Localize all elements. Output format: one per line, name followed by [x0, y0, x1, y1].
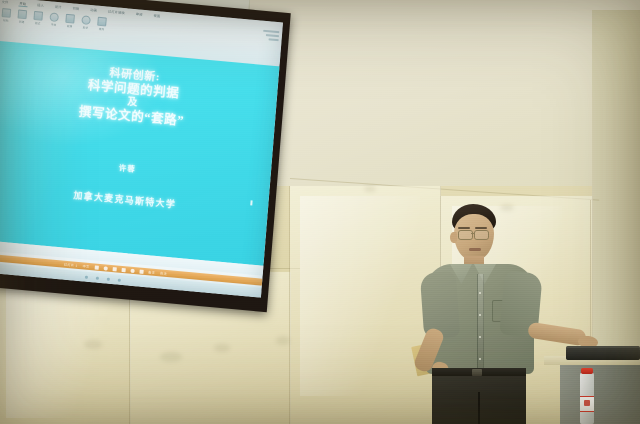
presenter-ear: [450, 232, 457, 243]
normal-view-icon[interactable]: [112, 267, 116, 271]
slide-author: 许蓉: [0, 150, 271, 187]
text-cursor: [250, 200, 252, 205]
laptop-icon[interactable]: [566, 348, 640, 360]
ribbon-tab-slideshow[interactable]: 幻灯片放映: [107, 9, 126, 17]
sorter-view-icon[interactable]: [121, 267, 125, 271]
slide-canvas: 科研创新: 科学问题的判据 及 撰写论文的“套路” 许蓉 加拿大麦克马斯特大学: [0, 40, 279, 275]
slide-affiliation: 加拿大麦克马斯特大学: [0, 180, 268, 219]
projected-image: 文件 开始 插入 设计 切换 动画 幻灯片放映 审阅 视图 粘贴: [0, 0, 283, 298]
presenter-mouth: [469, 248, 481, 251]
wall-smudge-3: [84, 340, 102, 349]
ribbon-tab-animations[interactable]: 动画: [89, 7, 98, 14]
wall-smudge-4: [160, 352, 182, 362]
status-notes-label[interactable]: 备注: [148, 269, 155, 275]
ribbon-group-paragraph-label: 段落: [67, 24, 72, 28]
ribbon-tab-review[interactable]: 审阅: [135, 11, 144, 18]
clipboard-icon: [2, 8, 12, 18]
ribbon-group-arrange[interactable]: 排列: [97, 17, 107, 32]
bottle-cap: [581, 368, 593, 374]
ribbon-group-font-label: 字体: [51, 23, 56, 27]
fit-window-icon[interactable]: [118, 278, 121, 281]
belt-buckle: [472, 369, 482, 376]
status-language: 中文: [82, 263, 89, 269]
ribbon-group-arrange-label: 排列: [99, 27, 104, 31]
ribbon-tab-file[interactable]: 文件: [1, 0, 10, 6]
comments-icon[interactable]: [103, 266, 107, 270]
ribbon-right-commands: [263, 30, 280, 42]
layout-icon: [33, 11, 43, 21]
lecture-room-photo: 文件 开始 插入 设计 切换 动画 幻灯片放映 审阅 视图 粘贴: [0, 0, 640, 424]
reading-view-icon[interactable]: [130, 268, 134, 272]
glasses-bridge: [471, 233, 474, 234]
current-slide[interactable]: 科研创新: 科学问题的判据 及 撰写论文的“套路” 许蓉 加拿大麦克马斯特大学: [0, 40, 279, 265]
slideshow-icon[interactable]: [139, 269, 143, 273]
presenter-brow-right: [475, 227, 487, 229]
arrange-icon: [97, 17, 107, 27]
edit-icon[interactable]: [266, 34, 279, 38]
paragraph-icon: [65, 14, 75, 24]
status-comments-label[interactable]: 批注: [160, 270, 167, 276]
notes-icon[interactable]: [94, 265, 98, 269]
whiteboard-seam-2: [289, 186, 290, 424]
zoom-in-icon[interactable]: [107, 277, 110, 280]
ribbon-group-shape-label: 形状: [83, 25, 88, 29]
presenter-brow-left: [458, 227, 470, 229]
status-slide-number: 幻灯片 1: [64, 262, 78, 268]
ribbon-tab-transitions[interactable]: 切换: [71, 5, 80, 12]
shirt-sleeve-left: [420, 271, 461, 339]
ribbon-group-layout-label: 版式: [35, 21, 40, 25]
ribbon-group-new-slide-label: 新建: [19, 20, 24, 24]
ribbon-tab-view[interactable]: 视图: [152, 13, 161, 20]
ribbon-group-paragraph[interactable]: 段落: [65, 14, 75, 29]
ribbon-group-paste-label: 粘贴: [3, 18, 8, 22]
ribbon-group-shape[interactable]: 形状: [81, 15, 91, 30]
bottle-label-mark: [584, 400, 590, 406]
new-slide-icon: [17, 9, 27, 19]
wall-smudge-1: [364, 186, 376, 192]
zoom-out-icon[interactable]: [85, 275, 88, 278]
wall-smudge-5: [214, 344, 230, 352]
trouser-leg-seam: [478, 392, 480, 424]
ribbon-group-layout[interactable]: 版式: [33, 11, 43, 26]
projection-screen: 文件 开始 插入 设计 切换 动画 幻灯片放映 审阅 视图 粘贴: [0, 0, 291, 312]
glasses-lens-right: [474, 230, 489, 240]
ribbon-group-paste[interactable]: 粘贴: [1, 8, 11, 23]
glasses-lens-left: [458, 230, 473, 240]
ribbon-group-new-slide[interactable]: 新建: [17, 9, 27, 24]
ribbon-group-font[interactable]: 字体: [49, 12, 59, 27]
ribbon-tab-design[interactable]: 设计: [54, 4, 63, 11]
font-icon: [49, 12, 59, 22]
ribbon-tab-insert[interactable]: 插入: [36, 2, 45, 9]
wall-smudge-6: [276, 336, 290, 345]
podium-cabinet: [560, 365, 640, 424]
zoom-slider-handle[interactable]: [96, 276, 99, 279]
shape-icon: [81, 15, 91, 25]
ribbon-tab-home[interactable]: 开始: [18, 0, 27, 7]
